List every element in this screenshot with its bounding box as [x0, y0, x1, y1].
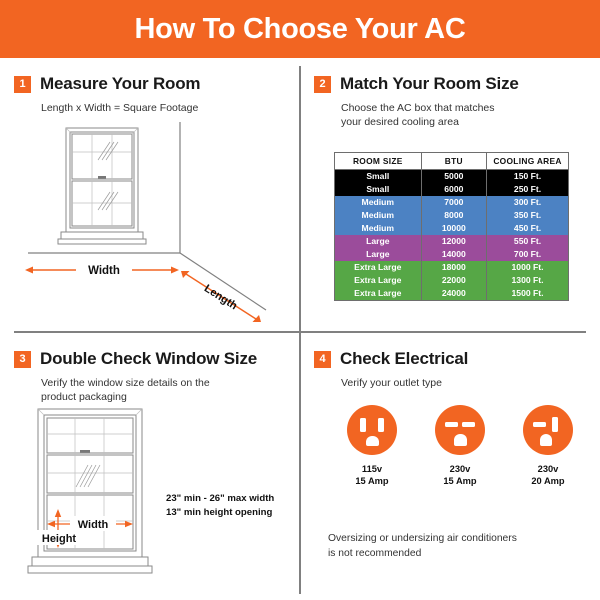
table-header-row: ROOM SIZE BTU COOLING AREA: [335, 153, 569, 170]
room-length-label: Length: [202, 283, 240, 313]
cell-btu: 22000: [421, 274, 487, 287]
cell-cooling-area: 300 Ft.: [487, 196, 569, 209]
table-row: Medium8000350 Ft.: [335, 209, 569, 222]
outlet-3-label: 230v 20 Amp: [531, 463, 564, 487]
outlet-230v-20amp-icon: [523, 405, 573, 455]
room-measurement-diagram: Width Length: [14, 122, 292, 322]
table-row: Medium10000450 Ft.: [335, 222, 569, 235]
cell-room-size: Extra Large: [335, 274, 422, 287]
cell-cooling-area: 1000 Ft.: [487, 261, 569, 274]
outlet-ground-slot: [366, 436, 379, 446]
cell-room-size: Medium: [335, 196, 422, 209]
outlet-slot-right: [552, 417, 558, 432]
column-header-btu: BTU: [421, 153, 487, 170]
outlet-type-list: 115v 15 Amp 230v 15 Amp 230v 20 Amp: [328, 405, 592, 487]
cell-btu: 6000: [421, 183, 487, 196]
cell-btu: 18000: [421, 261, 487, 274]
cell-btu: 12000: [421, 235, 487, 248]
cell-cooling-area: 700 Ft.: [487, 248, 569, 261]
page-header: How To Choose Your AC: [0, 0, 600, 58]
outlet-1-label: 115v 15 Amp: [355, 463, 388, 487]
step-1-title: Measure Your Room: [40, 74, 200, 94]
cell-cooling-area: 350 Ft.: [487, 209, 569, 222]
table-row: Medium7000300 Ft.: [335, 196, 569, 209]
table-row: Extra Large240001500 Ft.: [335, 287, 569, 301]
cell-room-size: Extra Large: [335, 287, 422, 301]
vertical-divider: [299, 66, 301, 594]
cell-cooling-area: 1500 Ft.: [487, 287, 569, 301]
step-3-subtitle: Verify the window size details on the pr…: [41, 376, 292, 404]
cell-room-size: Extra Large: [335, 261, 422, 274]
step-2-heading: 2 Match Your Room Size: [314, 74, 592, 94]
btu-sizing-table: ROOM SIZE BTU COOLING AREA Small5000150 …: [334, 152, 569, 301]
step-1-panel: 1 Measure Your Room Length x Width = Squ…: [14, 74, 292, 324]
outlet-115v-15amp-icon: [347, 405, 397, 455]
step-4-title: Check Electrical: [340, 349, 468, 369]
step-2-title: Match Your Room Size: [340, 74, 519, 94]
outlet-option-3: 230v 20 Amp: [510, 405, 586, 487]
step-1-heading: 1 Measure Your Room: [14, 74, 292, 94]
outlet-ground-slot: [454, 434, 467, 446]
outlet-2-label: 230v 15 Amp: [443, 463, 476, 487]
outlet-slot-left: [533, 422, 546, 427]
step-4-panel: 4 Check Electrical Verify your outlet ty…: [314, 349, 592, 589]
cell-btu: 7000: [421, 196, 487, 209]
table-row: Large12000550 Ft.: [335, 235, 569, 248]
table-row: Extra Large220001300 Ft.: [335, 274, 569, 287]
column-header-cooling-area: COOLING AREA: [487, 153, 569, 170]
step-2-badge: 2: [314, 76, 331, 93]
outlet-slot-left: [360, 418, 366, 432]
cell-btu: 5000: [421, 170, 487, 184]
cell-btu: 10000: [421, 222, 487, 235]
cell-cooling-area: 250 Ft.: [487, 183, 569, 196]
cell-cooling-area: 1300 Ft.: [487, 274, 569, 287]
cell-btu: 8000: [421, 209, 487, 222]
table-body: Small5000150 Ft.Small6000250 Ft.Medium70…: [335, 170, 569, 301]
cell-room-size: Medium: [335, 209, 422, 222]
cell-btu: 24000: [421, 287, 487, 301]
step-3-panel: 3 Double Check Window Size Verify the wi…: [14, 349, 292, 589]
horizontal-divider: [14, 331, 586, 333]
table-row: Small6000250 Ft.: [335, 183, 569, 196]
cell-cooling-area: 450 Ft.: [487, 222, 569, 235]
table-row: Large14000700 Ft.: [335, 248, 569, 261]
outlet-slot-right: [378, 418, 384, 432]
cell-room-size: Large: [335, 248, 422, 261]
step-3-badge: 3: [14, 351, 31, 368]
step-2-subtitle: Choose the AC box that matches your desi…: [341, 101, 592, 129]
cell-room-size: Large: [335, 235, 422, 248]
window-width-label: Width: [78, 519, 109, 531]
outlet-option-1: 115v 15 Amp: [334, 405, 410, 487]
cell-room-size: Small: [335, 183, 422, 196]
step-4-heading: 4 Check Electrical: [314, 349, 592, 369]
table-row: Small5000150 Ft.: [335, 170, 569, 184]
room-width-label: Width: [88, 265, 120, 277]
step-4-subtitle: Verify your outlet type: [341, 376, 592, 390]
cell-room-size: Medium: [335, 222, 422, 235]
window-height-label: Height: [42, 533, 77, 545]
cell-cooling-area: 150 Ft.: [487, 170, 569, 184]
outlet-slot-left: [445, 422, 458, 427]
step-4-badge: 4: [314, 351, 331, 368]
cell-room-size: Small: [335, 170, 422, 184]
step-3-heading: 3 Double Check Window Size: [14, 349, 292, 369]
window-size-note: 23" min - 26" max width 13" min height o…: [166, 492, 274, 520]
step-1-subtitle: Length x Width = Square Footage: [41, 101, 292, 115]
cell-cooling-area: 550 Ft.: [487, 235, 569, 248]
outlet-option-2: 230v 15 Amp: [422, 405, 498, 487]
step-3-title: Double Check Window Size: [40, 349, 257, 369]
table-row: Extra Large180001000 Ft.: [335, 261, 569, 274]
cell-btu: 14000: [421, 248, 487, 261]
outlet-ground-slot: [540, 434, 552, 446]
infographic-page: How To Choose Your AC 1 Measure Your Roo…: [0, 0, 600, 600]
page-title: How To Choose Your AC: [135, 15, 466, 44]
step-1-badge: 1: [14, 76, 31, 93]
step-2-panel: 2 Match Your Room Size Choose the AC box…: [314, 74, 592, 324]
outlet-slot-right: [462, 422, 475, 427]
column-header-room-size: ROOM SIZE: [335, 153, 422, 170]
outlet-230v-15amp-icon: [435, 405, 485, 455]
sizing-warning-note: Oversizing or undersizing air conditione…: [328, 532, 517, 561]
